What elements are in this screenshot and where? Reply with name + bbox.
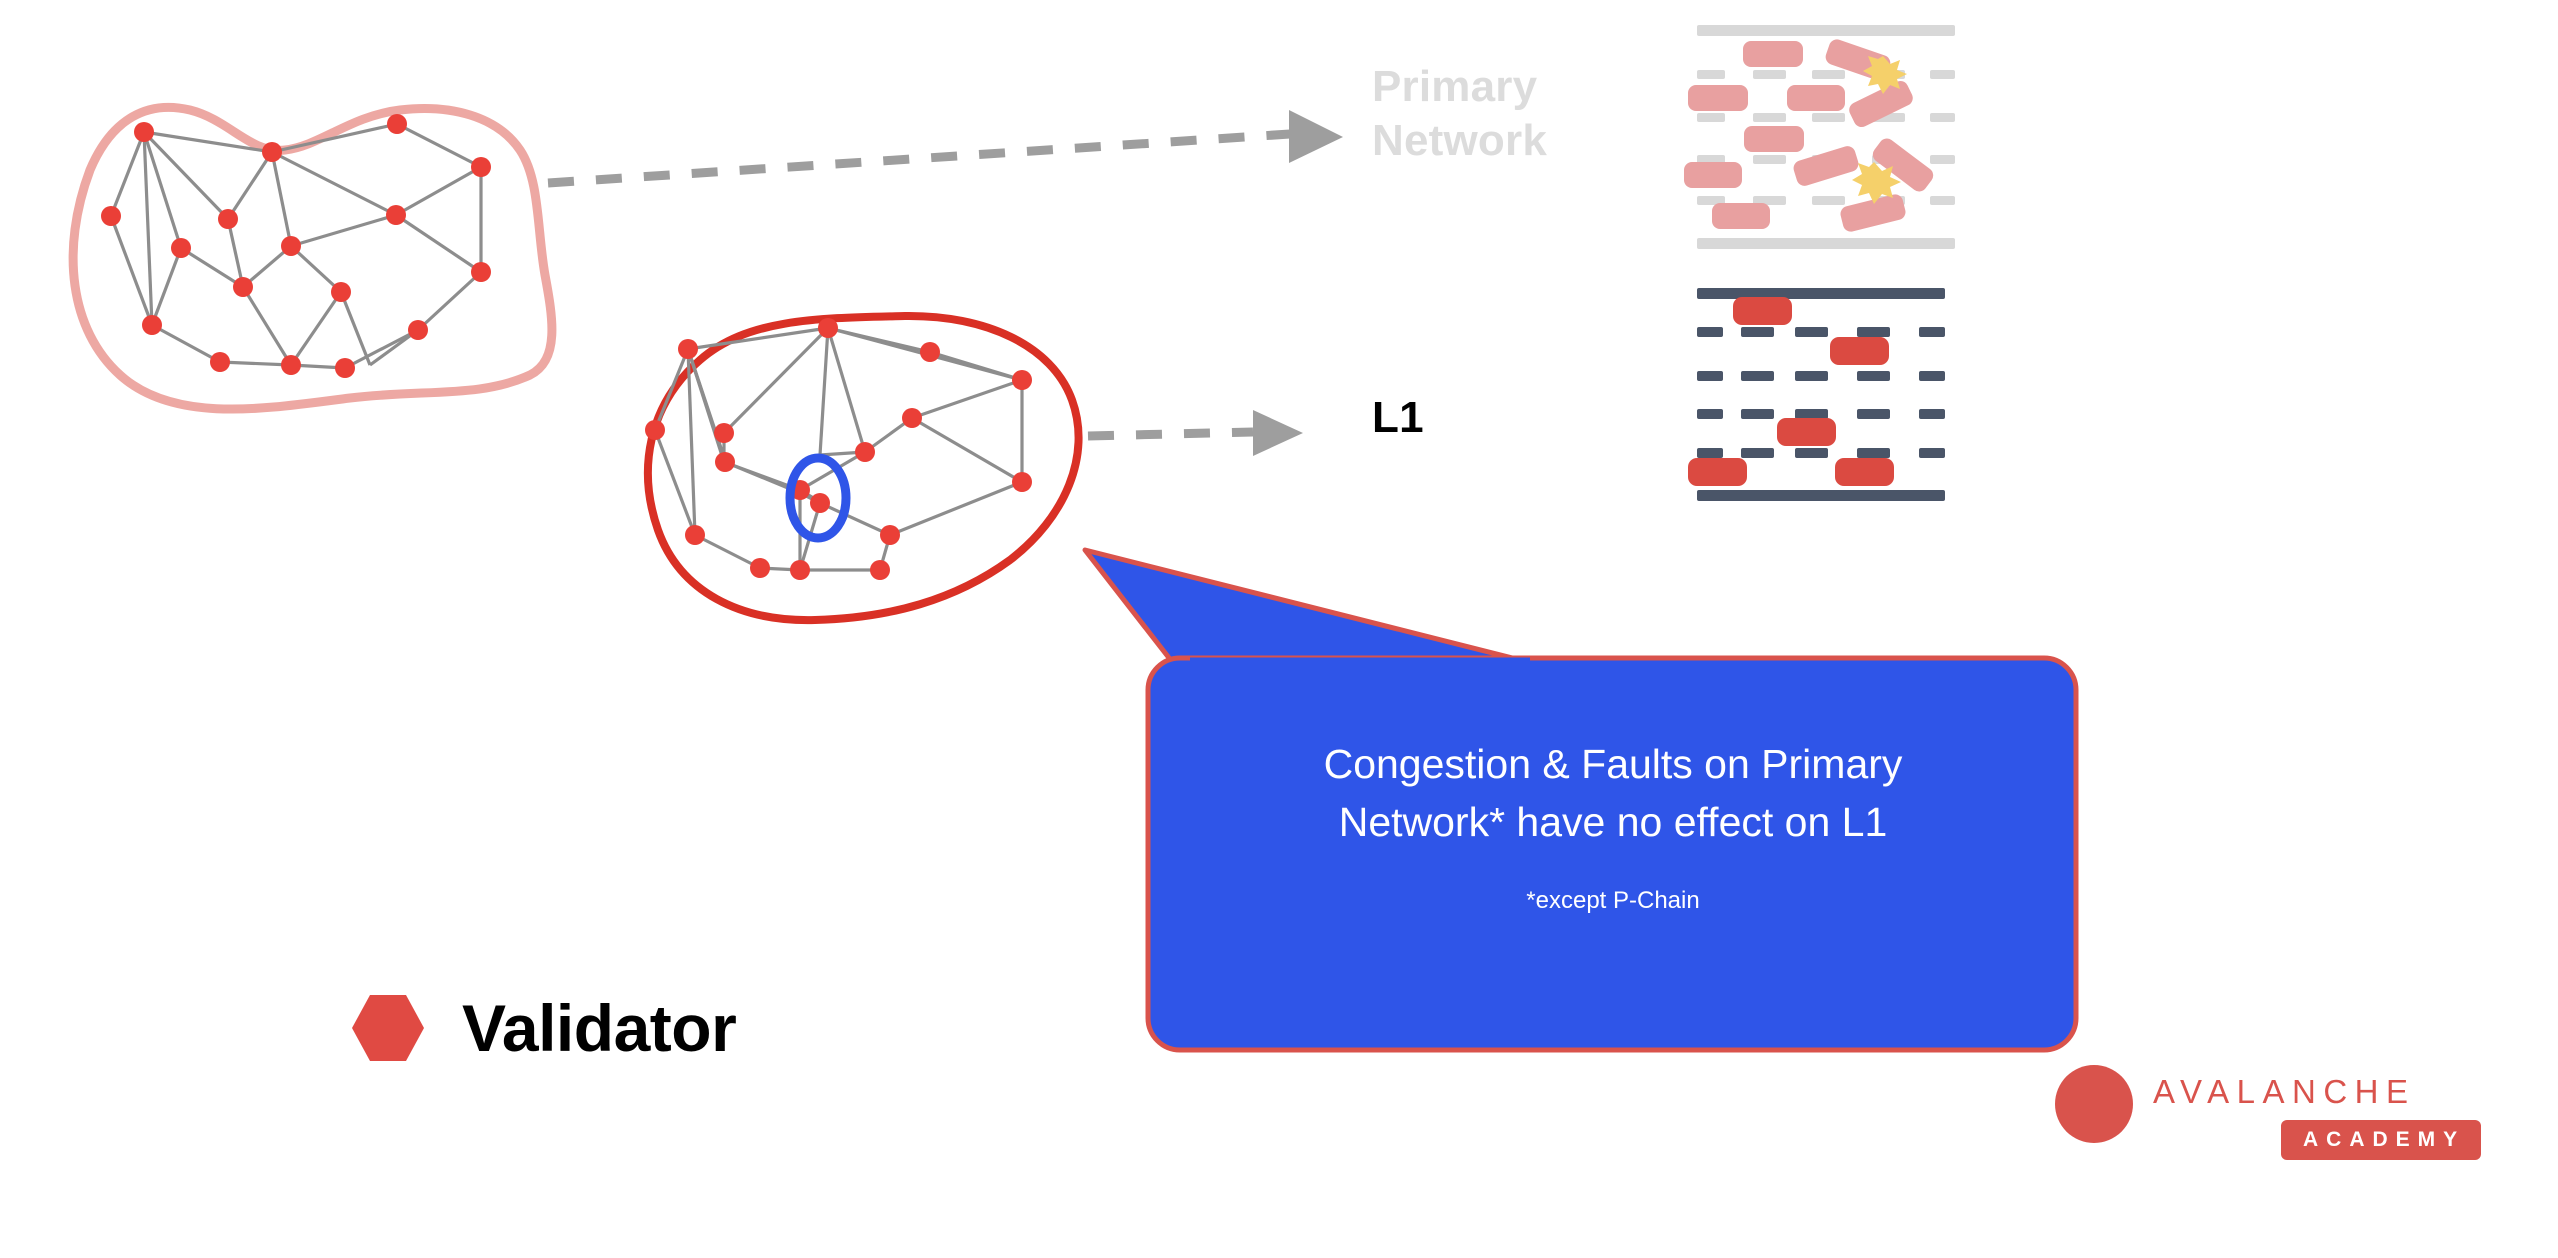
primary-network-blob (73, 107, 552, 409)
primary-network-label-line2: Network (1372, 114, 1652, 168)
avalanche-logo-mark (2055, 1065, 2133, 1143)
l1-label: L1 (1372, 393, 1424, 443)
callout-tail (1085, 550, 1540, 672)
l1-blob (645, 316, 1079, 620)
primary-network-label: Primary Network (1372, 60, 1652, 167)
avalanche-academy-logo: AVALANCHE ACADEMY (2055, 1065, 2481, 1160)
academy-badge: ACADEMY (2281, 1120, 2481, 1160)
callout-footnote: *except P-Chain (1168, 885, 2058, 916)
slide-canvas: Primary Network L1 Congestion & Faults o… (0, 0, 2558, 1258)
avalanche-wordmark: AVALANCHE (2153, 1075, 2481, 1108)
primary-network-transactions (1684, 37, 1936, 233)
callout-text-block: Congestion & Faults on Primary Network* … (1168, 735, 2058, 917)
validator-legend-label: Validator (462, 990, 736, 1066)
l1-edges (655, 328, 1022, 570)
l1-healthy-diagram (1688, 288, 1945, 501)
l1-arrow (1088, 410, 1303, 456)
l1-blob-outline (648, 316, 1079, 620)
hexagon-icon (352, 995, 424, 1061)
callout-main-text: Congestion & Faults on Primary Network* … (1168, 735, 2058, 851)
validator-legend: Validator (352, 990, 736, 1066)
primary-network-congestion-diagram (1684, 25, 1955, 249)
academy-badge-label: ACADEMY (2303, 1128, 2465, 1151)
callout-main-line1: Congestion & Faults on Primary (1168, 735, 2058, 793)
avalanche-logo-words: AVALANCHE ACADEMY (2153, 1065, 2481, 1160)
primary-network-label-line1: Primary (1372, 60, 1652, 114)
primary-network-arrow (548, 110, 1343, 183)
primary-network-nodes (101, 114, 491, 378)
callout-main-line2: Network* have no effect on L1 (1168, 793, 2058, 851)
